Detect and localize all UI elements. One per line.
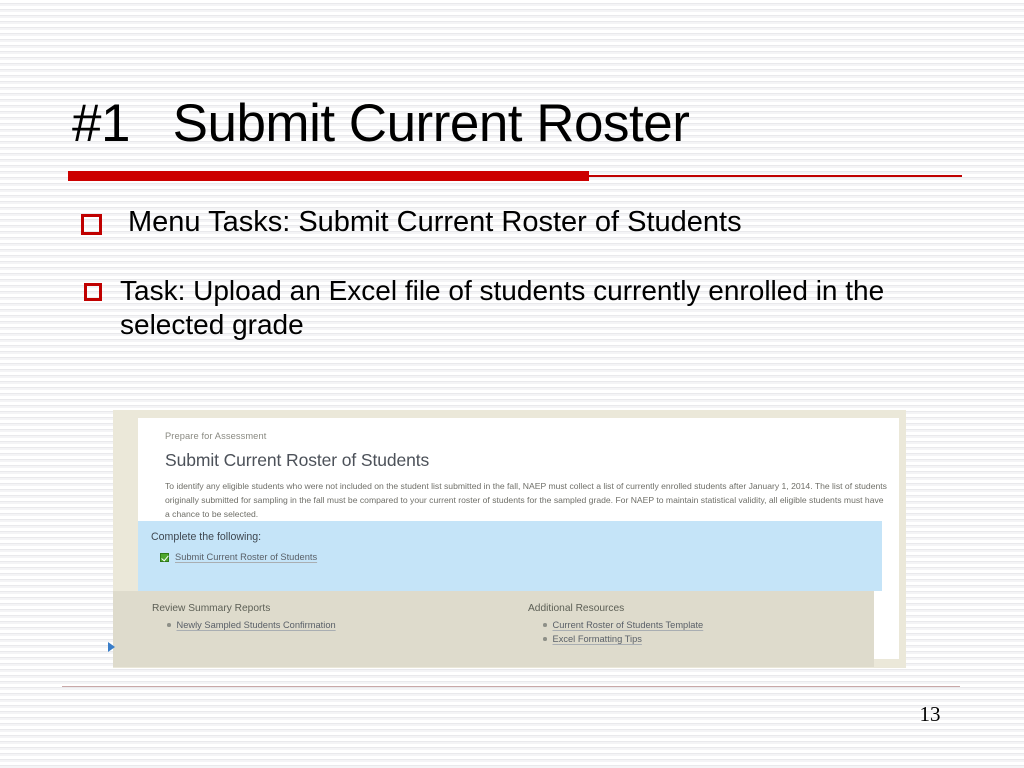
additional-resources-column: Additional Resources Current Roster of S…	[528, 603, 703, 648]
bullet-item-task: Task: Upload an Excel file of students c…	[72, 274, 972, 343]
screenshot-card: Prepare for Assessment Submit Current Ro…	[138, 418, 899, 659]
list-item[interactable]: Excel Formatting Tips	[528, 634, 703, 644]
page-number: 13	[900, 702, 960, 727]
title-underline-rule	[68, 171, 962, 182]
page-title: #1 Submit Current Roster	[72, 96, 972, 152]
review-summary-reports-column: Review Summary Reports Newly Sampled Stu…	[152, 603, 336, 634]
footer-divider	[62, 686, 960, 687]
bullet-item-menu-tasks: Menu Tasks: Submit Current Roster of Stu…	[72, 203, 972, 242]
list-item[interactable]: Newly Sampled Students Confirmation	[152, 620, 336, 630]
red-square-outline-icon	[81, 214, 102, 235]
red-square-outline-icon	[84, 283, 102, 301]
submit-current-roster-link[interactable]: Submit Current Roster of Students	[175, 552, 317, 562]
embedded-screenshot-image: Prepare for Assessment Submit Current Ro…	[113, 410, 906, 668]
complete-panel-title: Complete the following:	[151, 531, 882, 543]
resources-panel: Review Summary Reports Newly Sampled Stu…	[113, 591, 874, 667]
screenshot-description: To identify any eligible students who we…	[165, 480, 887, 522]
newly-sampled-students-confirmation-link[interactable]: Newly Sampled Students Confirmation	[177, 620, 336, 630]
green-checkbox-icon[interactable]	[160, 553, 169, 562]
complete-the-following-panel: Complete the following: Submit Current R…	[138, 521, 882, 591]
bullet-dot-icon	[167, 623, 171, 627]
blue-triangle-marker-icon	[108, 642, 115, 652]
current-roster-of-students-template-link[interactable]: Current Roster of Students Template	[553, 620, 704, 630]
screenshot-content: Prepare for Assessment Submit Current Ro…	[138, 418, 899, 522]
bullet-item-label: Task: Upload an Excel file of students c…	[120, 274, 972, 343]
breadcrumb: Prepare for Assessment	[165, 431, 883, 441]
bullet-list: Menu Tasks: Submit Current Roster of Stu…	[72, 203, 972, 342]
slide-canvas: #1 Submit Current Roster Menu Tasks: Sub…	[0, 0, 1024, 768]
bullet-dot-icon	[543, 623, 547, 627]
excel-formatting-tips-link[interactable]: Excel Formatting Tips	[553, 634, 642, 644]
screenshot-page-title: Submit Current Roster of Students	[165, 450, 883, 471]
bullet-dot-icon	[543, 637, 547, 641]
complete-task-row[interactable]: Submit Current Roster of Students	[151, 552, 882, 562]
column-title: Review Summary Reports	[152, 603, 336, 614]
column-title: Additional Resources	[528, 603, 703, 614]
title-rule-thick	[68, 171, 589, 181]
title-block: #1 Submit Current Roster	[72, 96, 972, 152]
bullet-item-label: Menu Tasks: Submit Current Roster of Stu…	[128, 203, 742, 242]
list-item[interactable]: Current Roster of Students Template	[528, 620, 703, 630]
